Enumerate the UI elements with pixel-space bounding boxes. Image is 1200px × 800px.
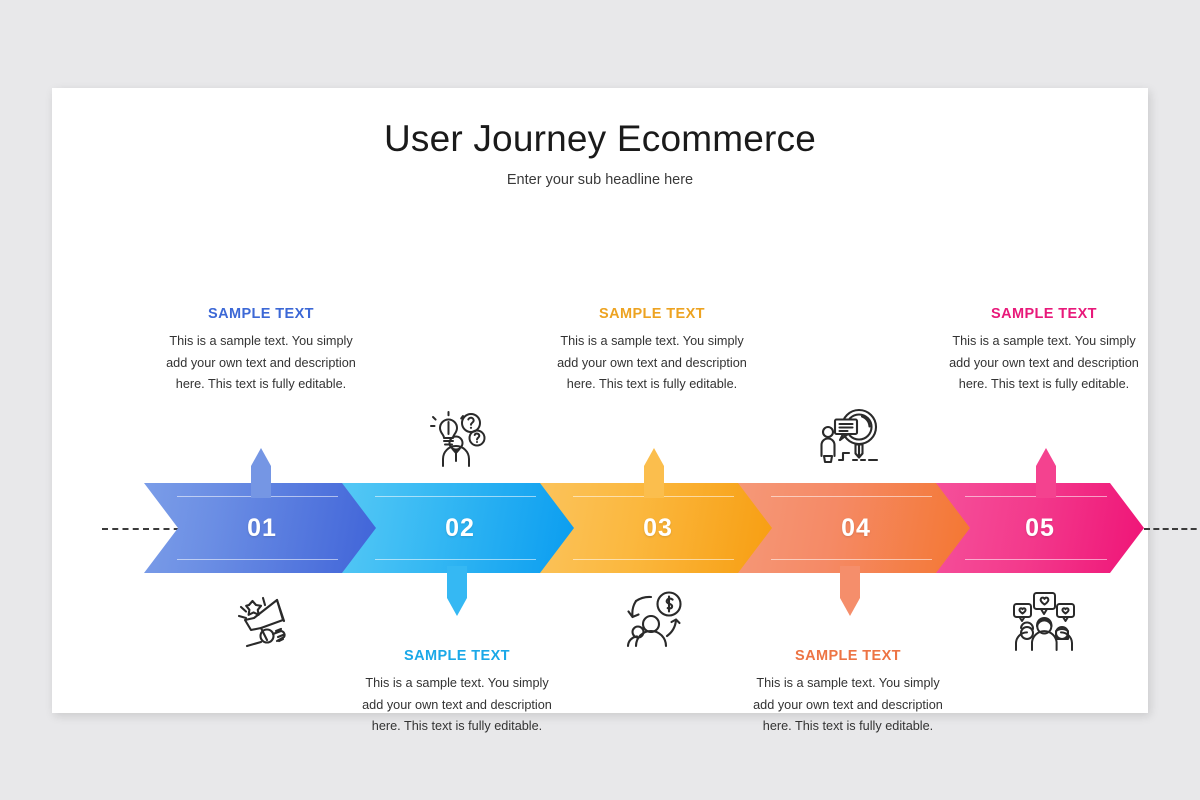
idea-question-icon xyxy=(423,408,491,470)
step-heading-01: SAMPLE TEXT xyxy=(161,306,361,322)
connector-stem-01 xyxy=(251,448,271,498)
step-text-block-01: SAMPLE TEXT This is a sample text. You s… xyxy=(161,306,361,396)
chevron-step-02[interactable]: 02 xyxy=(342,483,578,573)
step-body-02: This is a sample text. You simply add yo… xyxy=(357,673,557,738)
presentation-slide: User Journey Ecommerce Enter your sub he… xyxy=(52,88,1148,713)
megaphone-icon xyxy=(227,590,295,652)
slide-canvas: User Journey Ecommerce Enter your sub he… xyxy=(0,0,1200,800)
step-text-block-05: SAMPLE TEXT This is a sample text. You s… xyxy=(944,306,1144,396)
step-body-01: This is a sample text. You simply add yo… xyxy=(161,331,361,396)
connector-stem-03 xyxy=(644,448,664,498)
chevron-step-04[interactable]: 04 xyxy=(738,483,974,573)
search-review-icon xyxy=(815,408,883,470)
connector-stem-05 xyxy=(1036,448,1056,498)
chevron-number-03: 03 xyxy=(643,514,673,543)
step-heading-04: SAMPLE TEXT xyxy=(748,648,948,664)
chevron-number-02: 02 xyxy=(445,514,475,543)
chevron-number-04: 04 xyxy=(841,514,871,543)
step-text-block-04: SAMPLE TEXT This is a sample text. You s… xyxy=(748,648,948,738)
step-heading-05: SAMPLE TEXT xyxy=(944,306,1144,322)
connector-stem-02 xyxy=(447,566,467,616)
step-text-block-02: SAMPLE TEXT This is a sample text. You s… xyxy=(357,648,557,738)
page-subtitle: Enter your sub headline here xyxy=(52,172,1148,188)
step-text-block-03: SAMPLE TEXT This is a sample text. You s… xyxy=(552,306,752,396)
page-title: User Journey Ecommerce xyxy=(52,118,1148,160)
step-body-04: This is a sample text. You simply add yo… xyxy=(748,673,948,738)
chevron-number-05: 05 xyxy=(1025,514,1055,543)
step-body-05: This is a sample text. You simply add yo… xyxy=(944,331,1144,396)
purchase-money-icon xyxy=(618,590,686,652)
step-heading-02: SAMPLE TEXT xyxy=(357,648,557,664)
step-heading-03: SAMPLE TEXT xyxy=(552,306,752,322)
step-body-03: This is a sample text. You simply add yo… xyxy=(552,331,752,396)
chevron-number-01: 01 xyxy=(247,514,277,543)
connector-stem-04 xyxy=(840,566,860,616)
loyalty-people-hearts-icon xyxy=(1010,590,1078,652)
process-chevron-band: 01 02 03 04 05 xyxy=(52,483,1200,573)
